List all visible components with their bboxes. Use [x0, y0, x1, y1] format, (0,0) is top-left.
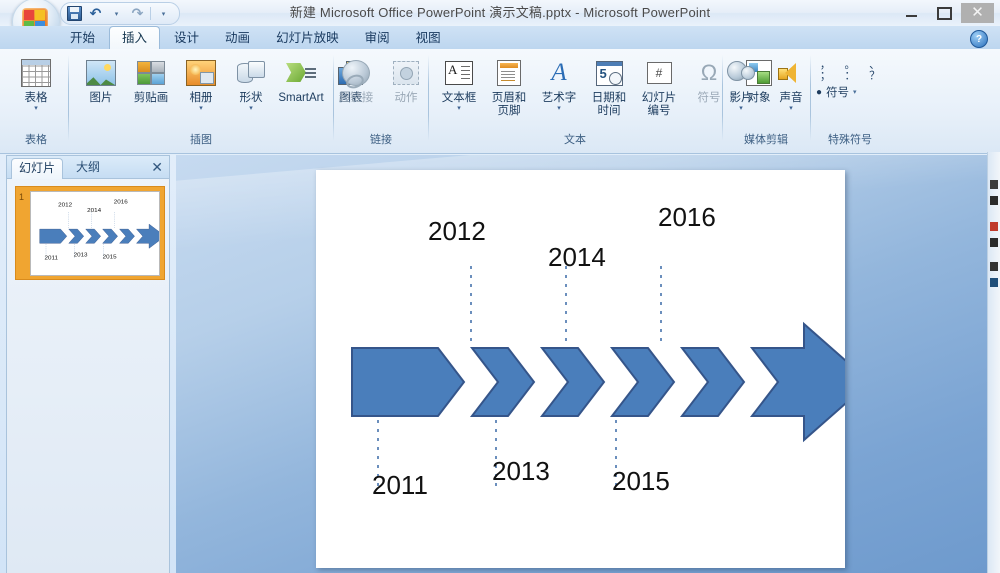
year-label-2012: 2012 — [428, 216, 486, 247]
timeline-segment-0 — [40, 229, 67, 243]
close-pane-icon[interactable]: ✕ — [151, 158, 163, 176]
tab-slides[interactable]: 幻灯片 — [11, 158, 63, 179]
ribbon-group-label-links: 链接 — [337, 131, 425, 147]
smartart-button[interactable]: SmartArt — [276, 54, 326, 105]
ribbon-group-illustrations: 图片 剪贴画 相册 ▾ 形状 ▾ SmartAr — [72, 51, 330, 149]
ribbon-tab-1[interactable]: 插入 — [109, 26, 160, 49]
pane-tab-strip: 幻灯片 大纲 ✕ — [7, 156, 169, 179]
group-divider — [68, 55, 69, 141]
photo-album-button[interactable]: 相册 ▾ — [176, 54, 226, 112]
slide-thumbnail-pane: 幻灯片 大纲 ✕ 1 201220142016201120132015 — [6, 155, 170, 573]
movie-button[interactable]: 影片 ▾ — [716, 54, 766, 112]
thumb-year-2014: 2014 — [87, 208, 102, 214]
timeline-segment-3 — [612, 348, 674, 416]
symbol-glyph-4[interactable]: ： — [841, 71, 860, 82]
timeline-segment-1 — [69, 229, 84, 243]
chevron-down-icon: ▾ — [115, 10, 119, 18]
clip-art-button[interactable]: 剪贴画 — [126, 54, 176, 105]
strip-mark — [990, 196, 998, 205]
undo-dropdown-button[interactable]: ▾ — [108, 5, 125, 22]
timeline-segment-2 — [86, 229, 101, 243]
ribbon-group-text: 文本框 ▾ 页眉和页脚 A 艺术字 ▾ 5 日期和时间 # — [430, 51, 720, 149]
photo-album-icon — [186, 56, 216, 90]
undo-icon: ↶ — [90, 5, 102, 22]
ribbon-group-special-symbols: ，。、；：？ ● 符号 ▾ 特殊符号 — [812, 51, 888, 149]
ribbon-tab-0[interactable]: 开始 — [58, 28, 107, 49]
timeline-segment-4 — [682, 348, 744, 416]
quick-access-toolbar: ↶ ▾ ↷ ▾ — [60, 2, 180, 25]
timeline-arrow-head — [752, 324, 845, 440]
strip-mark — [990, 278, 998, 287]
ribbon-tab-6[interactable]: 视图 — [404, 28, 453, 49]
qat-divider — [150, 7, 151, 20]
ribbon-group-links: 超链接 动作 链接 — [337, 51, 425, 149]
chevron-down-icon: ▾ — [34, 105, 38, 112]
strip-mark — [990, 180, 998, 189]
clip-art-button-label: 剪贴画 — [134, 92, 169, 105]
shapes-button[interactable]: 形状 ▾ — [226, 54, 276, 112]
picture-button-label: 图片 — [90, 92, 113, 105]
table-icon — [21, 56, 51, 90]
timeline-segment-3 — [103, 229, 118, 243]
table-button[interactable]: 表格 ▾ — [11, 54, 61, 112]
thumb-year-2012: 2012 — [58, 203, 72, 209]
close-icon: ✕ — [971, 3, 984, 21]
thumb-year-2016: 2016 — [114, 200, 128, 206]
slide-thumbnail-preview: 201220142016201120132015 — [30, 191, 160, 276]
clip-art-icon — [137, 56, 165, 90]
text-box-button-label: 文本框 — [442, 92, 477, 105]
globe-link-icon — [342, 56, 370, 90]
thumbnail-timeline-graphic: 201220142016201120132015 — [31, 192, 159, 275]
date-time-icon: 5 — [596, 56, 623, 90]
chevron-down-icon: ▾ — [249, 105, 253, 112]
ribbon-tab-strip: 开始插入设计动画幻灯片放映审阅视图 ? — [0, 26, 1000, 50]
sound-icon — [778, 56, 804, 90]
year-label-2013: 2013 — [492, 456, 550, 487]
hyperlink-button[interactable]: 超链接 — [331, 54, 381, 105]
close-button[interactable]: ✕ — [961, 3, 994, 23]
chevron-down-icon: ▾ — [853, 88, 857, 96]
redo-button[interactable]: ↷ — [129, 5, 146, 22]
help-icon[interactable]: ? — [970, 30, 988, 48]
timeline-arrow-head — [136, 224, 159, 248]
special-symbol-label: 符号 — [826, 84, 849, 100]
minimize-button[interactable] — [895, 3, 928, 23]
ribbon-tabs: 开始插入设计动画幻灯片放映审阅视图 — [58, 26, 455, 49]
ribbon-group-label-illustrations: 插图 — [72, 131, 330, 147]
header-footer-button[interactable]: 页眉和页脚 — [484, 54, 534, 117]
hyperlink-button-label: 超链接 — [339, 92, 374, 105]
date-time-button-label: 日期和时间 — [591, 92, 627, 117]
ribbon-group-label-special: 特殊符号 — [812, 131, 888, 147]
chevron-down-icon: ▾ — [199, 105, 203, 112]
table-button-label: 表格 — [25, 92, 48, 105]
customize-qat-button[interactable]: ▾ — [155, 5, 172, 22]
slide-thumbnail-item[interactable]: 1 201220142016201120132015 — [15, 186, 165, 280]
movie-icon — [727, 56, 755, 90]
chevron-down-icon: ▾ — [557, 105, 561, 112]
thumb-year-2015: 2015 — [103, 255, 118, 261]
action-button-label: 动作 — [395, 92, 418, 105]
picture-icon — [86, 56, 116, 90]
photo-album-button-label: 相册 — [190, 92, 213, 105]
smartart-button-label: SmartArt — [278, 92, 323, 105]
group-divider — [428, 55, 429, 141]
year-label-2011: 2011 — [372, 470, 428, 501]
maximize-button[interactable] — [928, 3, 961, 23]
text-box-button[interactable]: 文本框 ▾ — [434, 54, 484, 112]
chevron-down-icon: ▾ — [457, 105, 461, 112]
slide-number-button-label: 幻灯片编号 — [641, 92, 677, 117]
timeline-segment-1 — [472, 348, 534, 416]
ribbon-insert-panel: 表格 ▾ 表格 图片 剪贴画 相册 ▾ — [0, 49, 1000, 154]
special-symbol-button[interactable]: ● 符号 ▾ — [816, 82, 884, 100]
header-footer-icon — [497, 56, 521, 90]
year-label-2015: 2015 — [612, 466, 670, 497]
undo-button[interactable]: ↶ — [87, 5, 104, 22]
right-scroll-strip[interactable] — [987, 152, 1000, 573]
date-time-button[interactable]: 5 日期和时间 — [584, 54, 634, 117]
timeline-graphic[interactable] — [316, 170, 845, 568]
ribbon-group-tables: 表格 ▾ 表格 — [6, 51, 66, 149]
timeline-segment-2 — [542, 348, 604, 416]
ribbon-tab-3[interactable]: 动画 — [213, 28, 262, 49]
shapes-icon — [237, 56, 265, 90]
ribbon-tab-4[interactable]: 幻灯片放映 — [264, 28, 351, 49]
ribbon-tab-2[interactable]: 设计 — [162, 28, 211, 49]
ribbon-group-label-tables: 表格 — [6, 131, 66, 147]
slide-canvas[interactable]: 201220142016201120132015 — [316, 170, 845, 568]
symbol-glyph-3[interactable]: ； — [816, 71, 835, 82]
year-label-2014: 2014 — [548, 242, 606, 273]
slide-number-label: 1 — [19, 192, 24, 202]
timeline-segment-0 — [352, 348, 464, 416]
group-divider — [810, 55, 811, 141]
year-label-2016: 2016 — [658, 202, 716, 233]
picture-button[interactable]: 图片 — [76, 54, 126, 105]
chevron-down-icon: ▾ — [739, 105, 743, 112]
bullet-icon: ● — [816, 87, 822, 98]
ribbon-group-label-media: 媒体剪辑 — [724, 131, 808, 147]
word-art-icon: A — [547, 56, 571, 90]
chevron-down-icon: ▾ — [162, 10, 166, 18]
smartart-icon — [286, 56, 316, 90]
strip-mark — [990, 238, 998, 247]
shapes-button-label: 形状 — [240, 92, 263, 105]
save-icon — [67, 6, 82, 21]
text-box-icon — [445, 56, 473, 90]
slide-number-button[interactable]: # 幻灯片编号 — [634, 54, 684, 117]
timeline-segment-4 — [120, 229, 135, 243]
slide-number-icon: # — [647, 56, 672, 90]
window-controls: ✕ — [895, 3, 994, 23]
movie-button-label: 影片 — [730, 92, 753, 105]
strip-mark — [990, 222, 998, 231]
action-button[interactable]: 动作 — [381, 54, 431, 105]
action-icon — [393, 56, 419, 90]
header-footer-button-label: 页眉和页脚 — [491, 92, 527, 117]
word-art-button[interactable]: A 艺术字 ▾ — [534, 54, 584, 112]
save-button[interactable] — [66, 5, 83, 22]
redo-icon: ↷ — [132, 5, 144, 22]
powerpoint-window: 新建 Microsoft Office PowerPoint 演示文稿.pptx… — [0, 0, 1000, 573]
symbol-glyph-grid[interactable]: ，。、；：？ — [816, 57, 884, 82]
chevron-down-icon: ▾ — [789, 105, 793, 112]
ribbon-group-label-text: 文本 — [430, 131, 720, 147]
sound-button[interactable]: 声音 ▾ — [766, 54, 816, 112]
thumb-year-2011: 2011 — [45, 256, 59, 262]
sound-button-label: 声音 — [780, 92, 803, 105]
ribbon-group-media-clips: 影片 ▾ 声音 ▾ 媒体剪辑 — [724, 51, 808, 149]
word-art-button-label: 艺术字 — [542, 92, 577, 105]
thumb-year-2013: 2013 — [74, 253, 88, 259]
tab-outline[interactable]: 大纲 — [69, 158, 107, 178]
strip-mark — [990, 262, 998, 271]
ribbon-tab-5[interactable]: 审阅 — [353, 28, 402, 49]
symbol-glyph-5[interactable]: ？ — [865, 71, 884, 82]
